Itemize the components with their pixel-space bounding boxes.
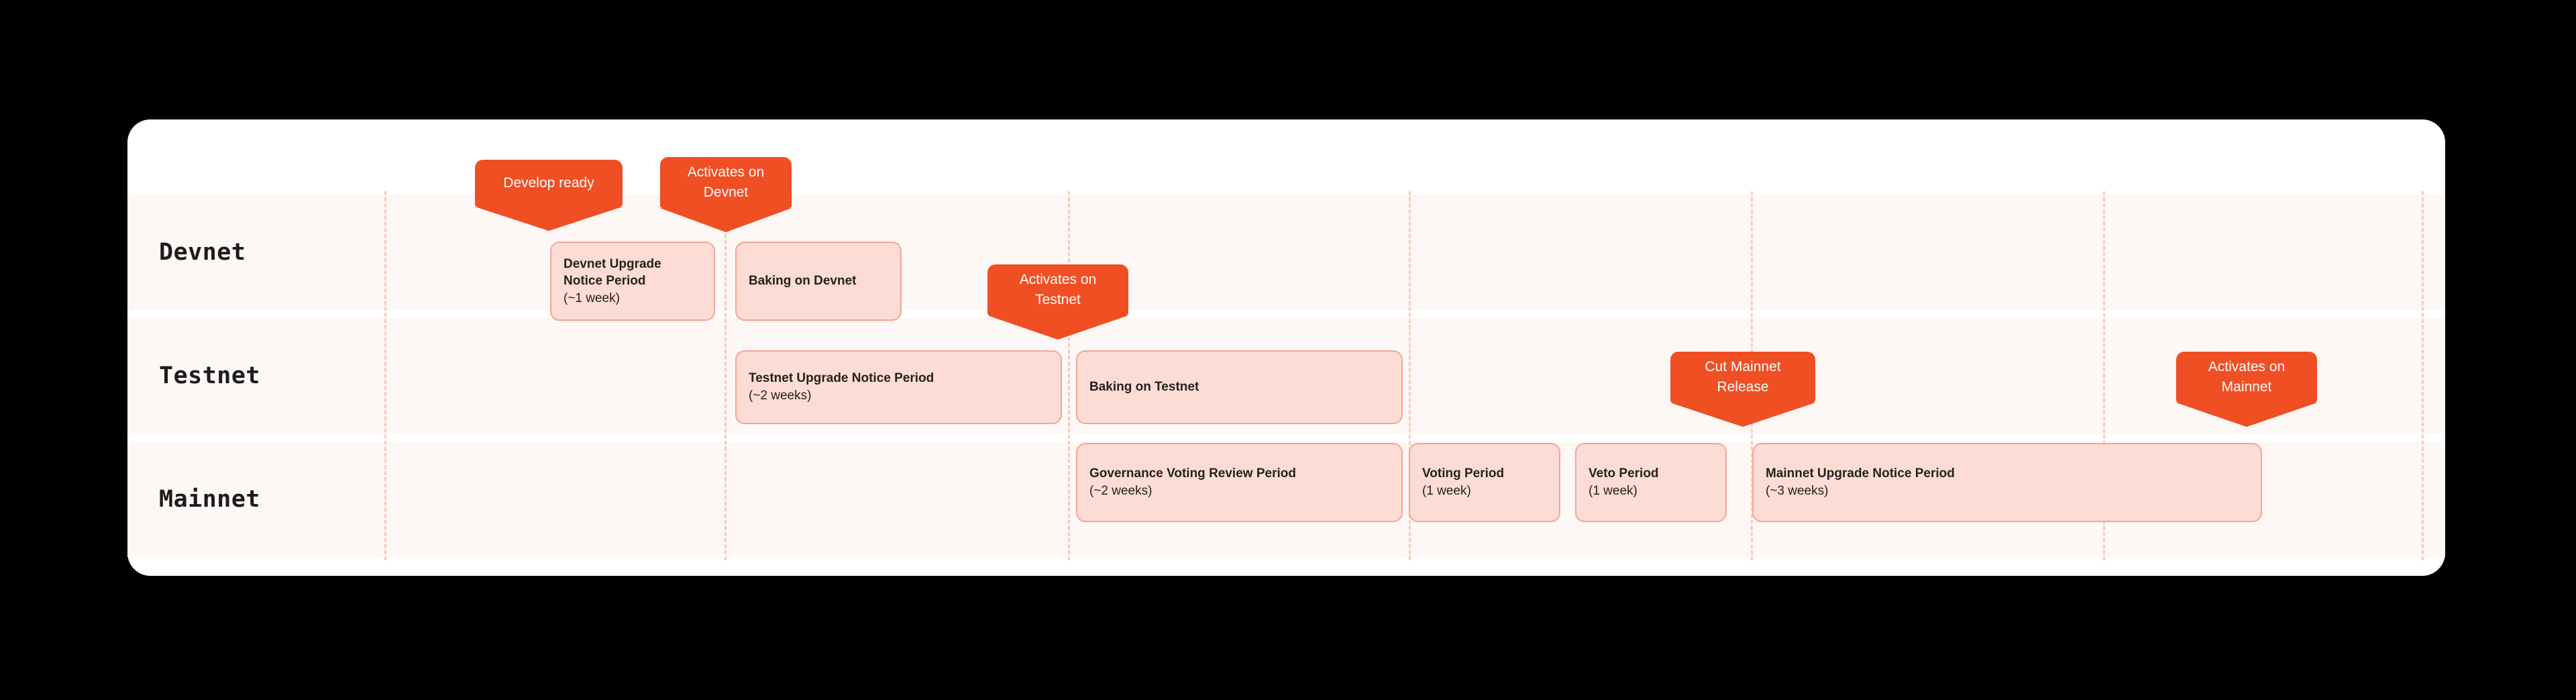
period-box[interactable]: Governance Voting Review Period(~2 weeks… bbox=[1076, 443, 1403, 522]
period-duration: (1 week) bbox=[1422, 483, 1547, 500]
period-title: Mainnet Upgrade Notice Period bbox=[1766, 465, 2249, 483]
milestone-marker[interactable]: Cut Mainnet Release bbox=[1670, 352, 1815, 403]
timeline-gridline-6 bbox=[2422, 191, 2424, 560]
milestone-marker-label: Activates on Testnet bbox=[1020, 270, 1096, 310]
period-duration: (~2 weeks) bbox=[749, 387, 1049, 405]
milestone-marker[interactable]: Activates on Mainnet bbox=[2176, 352, 2317, 403]
timeline-row-devnet: Devnet bbox=[127, 195, 2445, 310]
period-box[interactable]: Baking on Testnet bbox=[1076, 350, 1403, 424]
period-box[interactable]: Voting Period(1 week) bbox=[1409, 443, 1560, 522]
period-title: Devnet Upgrade Notice Period bbox=[563, 256, 702, 290]
timeline-gridline-2 bbox=[1068, 191, 1070, 560]
period-box[interactable]: Testnet Upgrade Notice Period(~2 weeks) bbox=[735, 350, 1062, 424]
row-label-testnet: Testnet bbox=[159, 362, 260, 389]
row-label-mainnet: Mainnet bbox=[159, 486, 260, 513]
period-title: Veto Period bbox=[1589, 465, 1713, 483]
period-duration: (1 week) bbox=[1589, 483, 1713, 500]
row-label-devnet: Devnet bbox=[159, 239, 246, 266]
milestone-marker[interactable]: Develop ready bbox=[475, 160, 623, 207]
period-box[interactable]: Devnet Upgrade Notice Period(~1 week) bbox=[550, 242, 715, 321]
milestone-marker-label: Activates on Devnet bbox=[688, 162, 764, 203]
timeline-gridline-1 bbox=[724, 191, 727, 560]
period-title: Voting Period bbox=[1422, 465, 1547, 483]
period-box[interactable]: Mainnet Upgrade Notice Period(~3 weeks) bbox=[1752, 443, 2262, 522]
milestone-marker-label: Activates on Mainnet bbox=[2208, 357, 2285, 397]
period-duration: (~2 weeks) bbox=[1089, 483, 1389, 500]
milestone-marker-label: Cut Mainnet Release bbox=[1705, 357, 1780, 397]
period-box[interactable]: Baking on Devnet bbox=[735, 242, 902, 321]
timeline-gridline-0 bbox=[384, 191, 386, 560]
period-duration: (~1 week) bbox=[563, 290, 702, 307]
period-duration: (~3 weeks) bbox=[1766, 483, 2249, 500]
milestone-marker-label: Develop ready bbox=[503, 173, 594, 193]
period-title: Baking on Testnet bbox=[1089, 379, 1389, 396]
timeline-card: Devnet Testnet Mainnet Devnet Upgrade No… bbox=[127, 119, 2445, 576]
milestone-marker[interactable]: Activates on Testnet bbox=[987, 264, 1128, 315]
period-box[interactable]: Veto Period(1 week) bbox=[1575, 443, 1727, 522]
period-title: Testnet Upgrade Notice Period bbox=[749, 370, 1049, 387]
period-title: Governance Voting Review Period bbox=[1089, 465, 1389, 483]
milestone-marker[interactable]: Activates on Devnet bbox=[660, 157, 792, 208]
period-title: Baking on Devnet bbox=[749, 272, 888, 290]
